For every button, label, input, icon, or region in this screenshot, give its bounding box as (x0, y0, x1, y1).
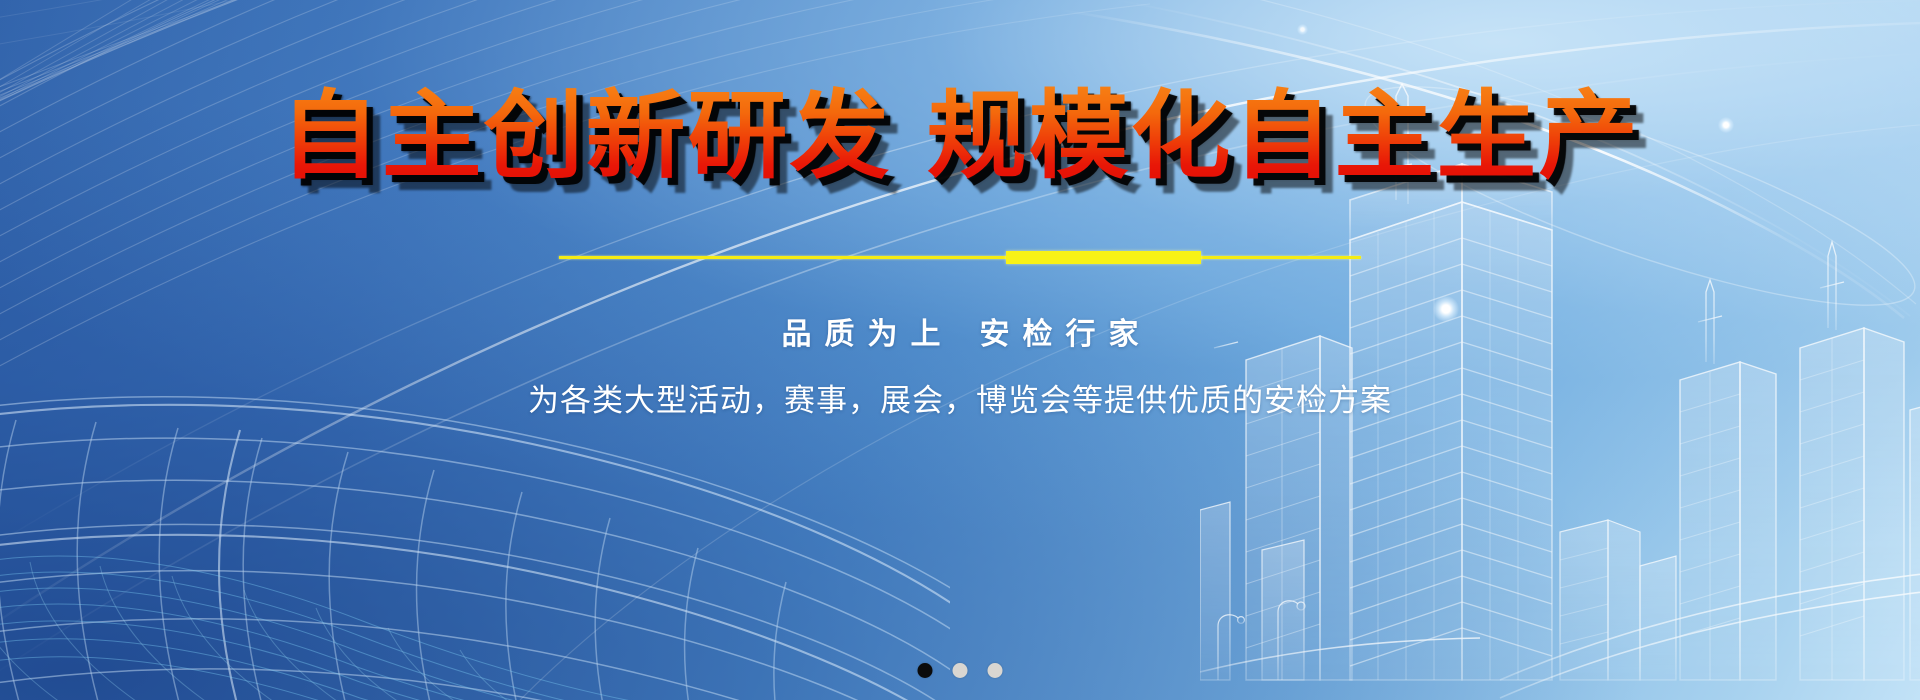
headline-part-2: 规模化自主生产 (927, 83, 1640, 190)
divider-thin-line (559, 256, 1361, 259)
divider-thick-segment (1006, 251, 1201, 264)
banner-content: 自主创新研发规模化自主生产 品质为上安检行家 为各类大型活动，赛事，展会，博览会… (0, 0, 1920, 700)
carousel-dot-1[interactable] (918, 663, 933, 678)
yellow-divider (559, 250, 1361, 264)
hero-banner: 自主创新研发规模化自主生产 品质为上安检行家 为各类大型活动，赛事，展会，博览会… (0, 0, 1920, 700)
headline-part-1: 自主创新研发 (280, 83, 892, 190)
tagline-part-1: 品质为上 (782, 318, 954, 351)
tagline: 品质为上安检行家 (769, 309, 1152, 353)
tagline-part-2: 安检行家 (980, 318, 1152, 351)
banner-description: 为各类大型活动，赛事，展会，博览会等提供优质的安检方案 (528, 375, 1392, 420)
carousel-dot-3[interactable] (988, 663, 1003, 678)
carousel-dots[interactable] (918, 663, 1003, 678)
page-title: 自主创新研发规模化自主生产 (280, 86, 1640, 188)
carousel-dot-2[interactable] (953, 663, 968, 678)
